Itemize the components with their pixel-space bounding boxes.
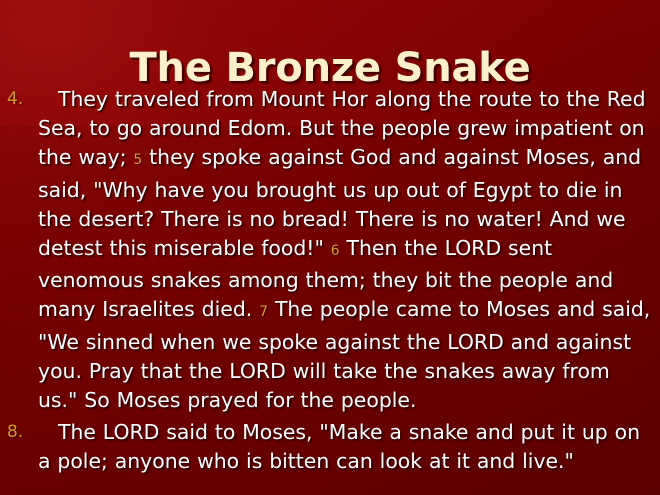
list-item: 8. The LORD said to Moses, "Make a snake… <box>0 418 660 476</box>
text-run: The LORD said to Moses, "Make a snake an… <box>38 420 640 473</box>
slide-title: The Bronze Snake <box>0 45 660 91</box>
paragraph-text: They traveled from Mount Hor along the r… <box>38 87 650 412</box>
paragraph-text: The LORD said to Moses, "Make a snake an… <box>38 420 640 473</box>
verse-number: 6 <box>331 243 340 259</box>
presentation-slide: The Bronze Snake 4. They traveled from M… <box>0 0 660 495</box>
verse-number: 7 <box>259 304 268 320</box>
list-item-number: 8. <box>7 418 33 447</box>
slide-body: 4. They traveled from Mount Hor along th… <box>0 85 660 477</box>
list-item: 4. They traveled from Mount Hor along th… <box>0 85 660 415</box>
verse-number: 5 <box>133 152 142 168</box>
